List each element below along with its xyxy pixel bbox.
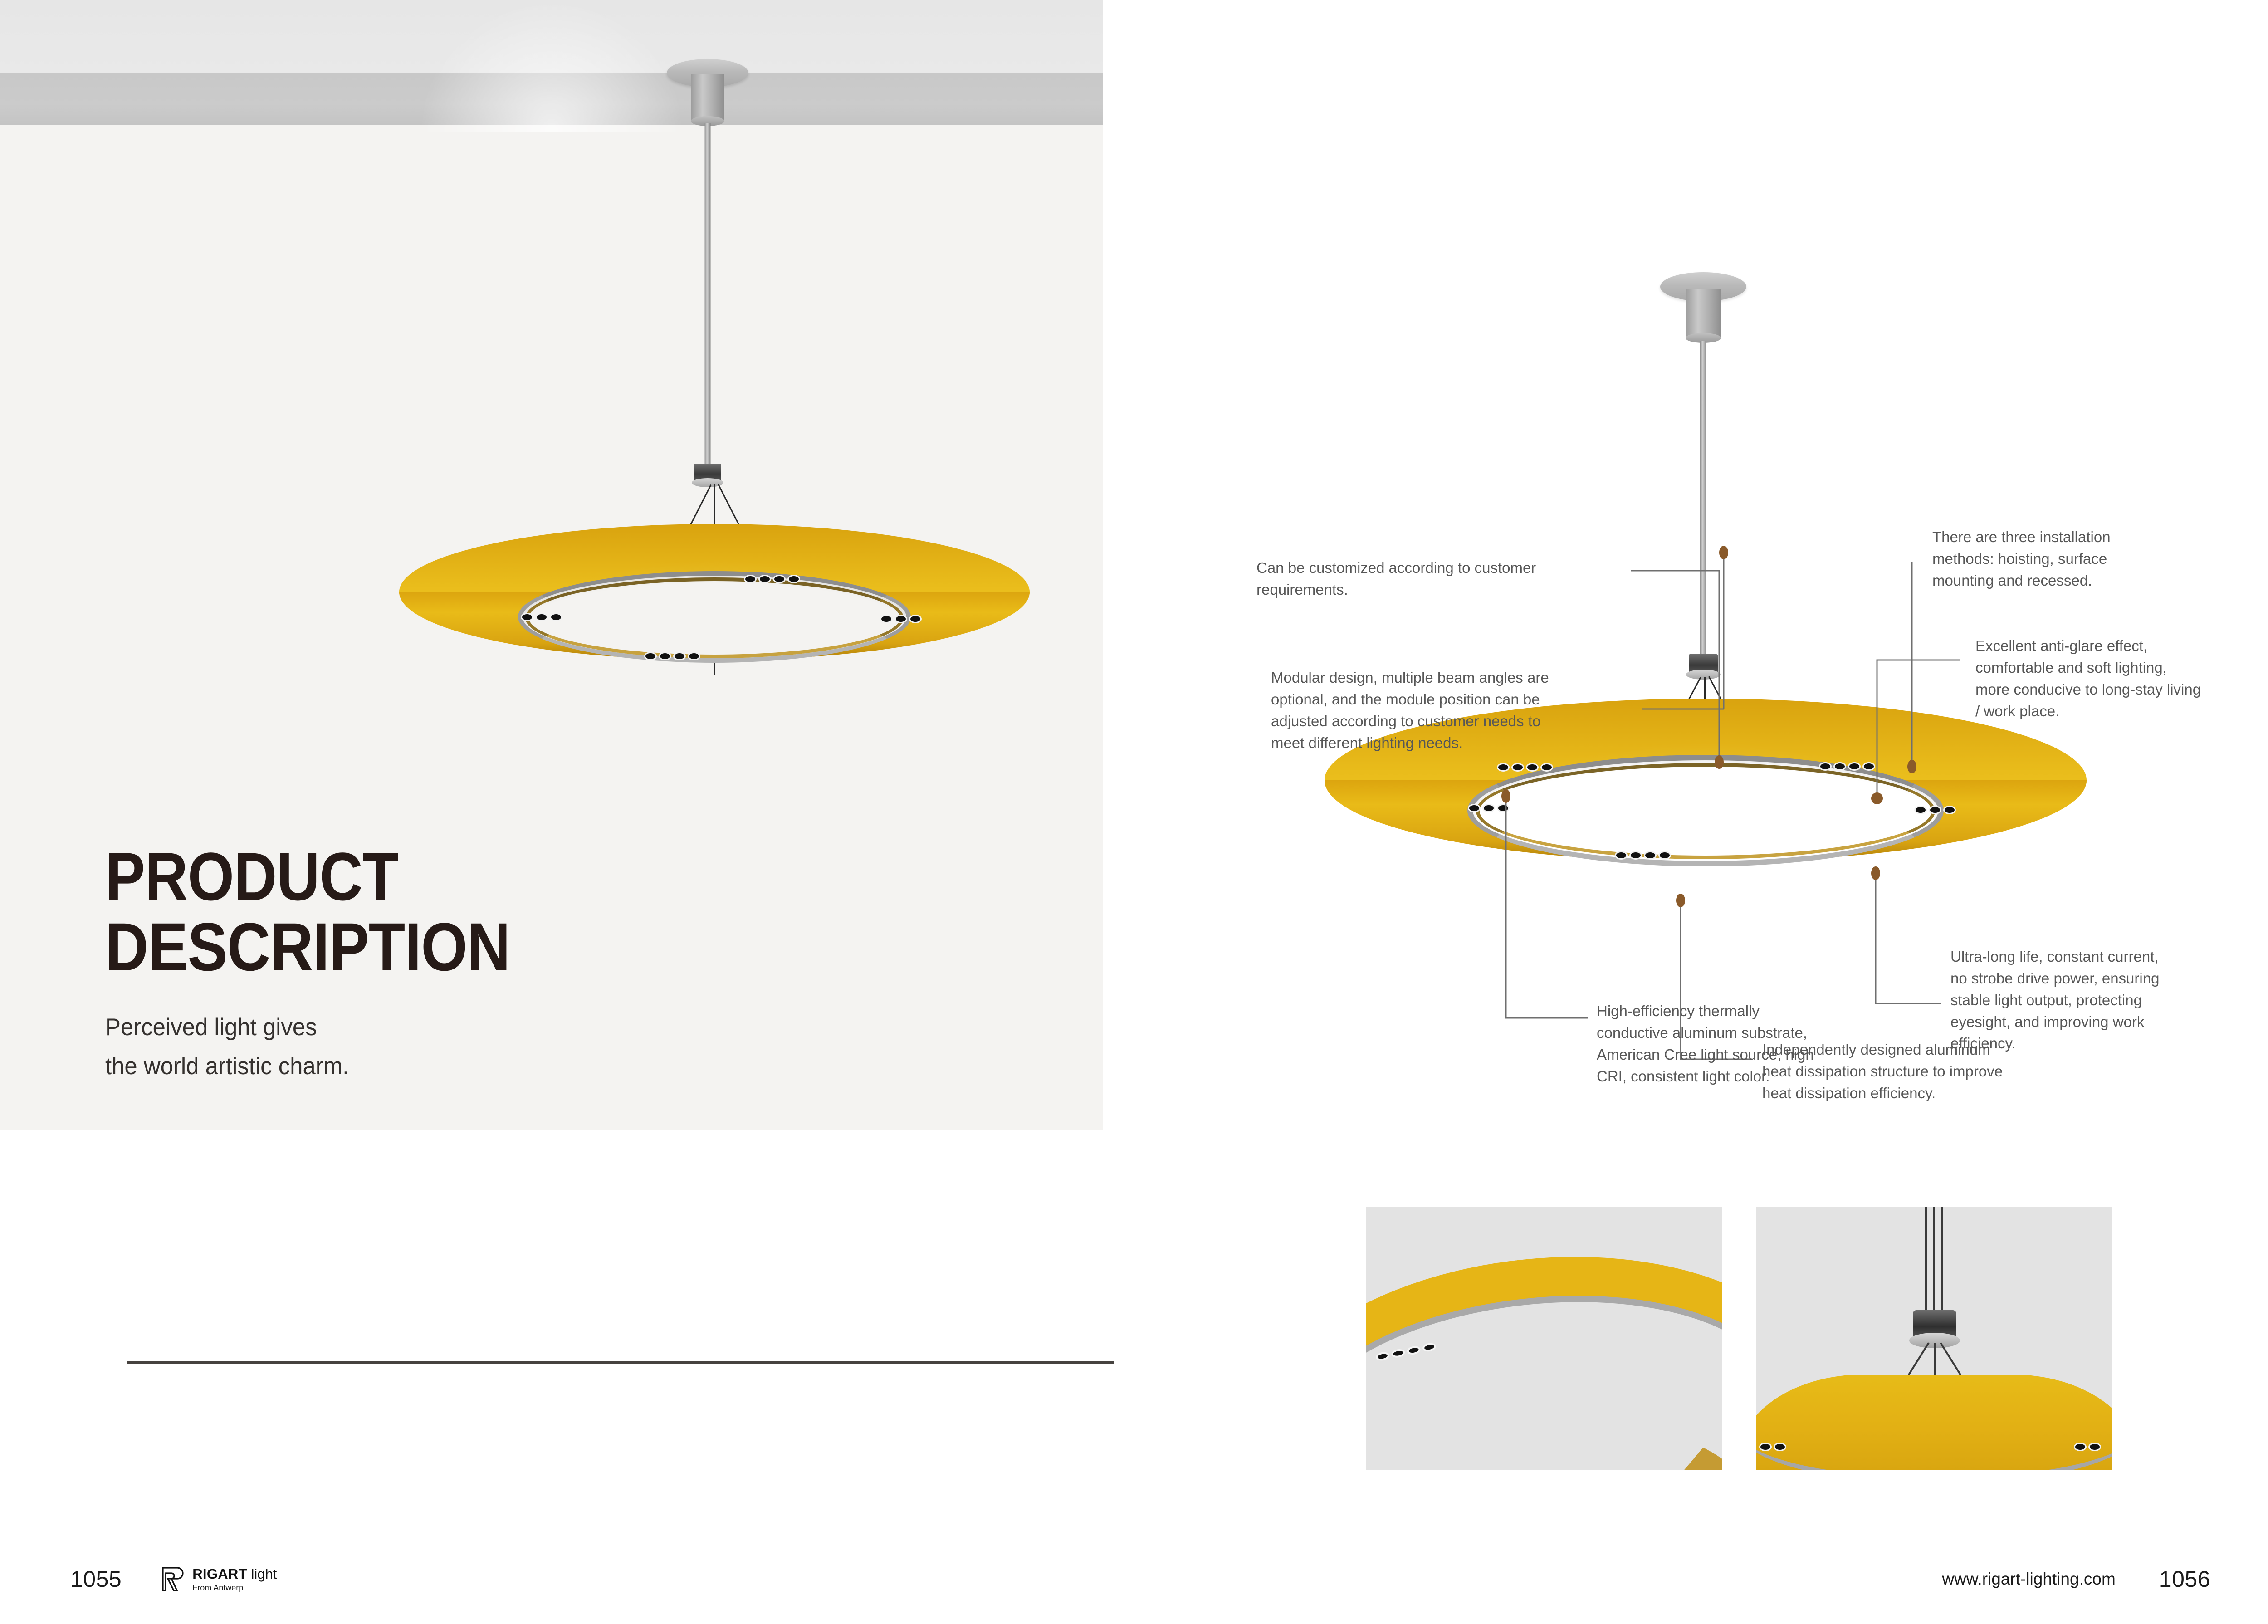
led-lens	[1629, 851, 1642, 860]
brand-name-bold: RIGART	[192, 1566, 247, 1582]
anchor-dot-heat-dissipation	[1676, 894, 1685, 907]
page-subtitle-line-2: the world artistic charm.	[105, 1047, 547, 1086]
brand-logo: RIGART light From Antwerp	[161, 1566, 277, 1592]
anchor-dot-installation-methods	[1907, 760, 1916, 773]
led-lens	[909, 615, 922, 623]
led-lens	[1468, 804, 1481, 812]
led-module-cluster-top-left	[1497, 763, 1553, 772]
led-module-cluster-top	[744, 575, 800, 583]
callout-modular-design: Modular design, multiple beam angles are…	[1271, 667, 1561, 753]
led-lens	[894, 615, 907, 623]
hub-led-cluster-left	[1759, 1443, 1786, 1451]
led-module-cluster-bottom	[644, 652, 700, 660]
led-lens	[1526, 763, 1539, 772]
page-number-right: 1056	[2159, 1566, 2210, 1592]
led-module-cluster-bottom	[1615, 851, 1671, 860]
led-lens	[1862, 762, 1875, 771]
led-lens	[1497, 763, 1510, 772]
led-lens	[521, 613, 533, 621]
led-lens	[1774, 1443, 1786, 1451]
detail-photo-led-modules	[1366, 1207, 1722, 1470]
canopy-stem	[691, 74, 724, 122]
hub-cable-right	[1941, 1207, 1943, 1312]
page-title-line-1: PRODUCT	[105, 841, 510, 912]
led-module-cluster-right	[1914, 806, 1956, 814]
led-lens	[2074, 1443, 2087, 1451]
led-module-cluster-right	[880, 615, 922, 623]
brand-tagline: From Antwerp	[192, 1584, 277, 1592]
led-module-cluster-top-right	[1819, 762, 1875, 771]
page-number-left: 1055	[70, 1566, 122, 1592]
anchor-dot-thermal-substrate	[1501, 789, 1510, 803]
page-subtitle-line-1: Perceived light gives	[105, 1008, 547, 1047]
rigart-logo-icon	[161, 1566, 184, 1592]
heading-block: PRODUCT DESCRIPTION Perceived light give…	[105, 841, 565, 1086]
ring-inner-lip	[525, 577, 904, 658]
led-lens	[1848, 762, 1861, 771]
page-title-line-2: DESCRIPTION	[105, 912, 510, 982]
anchor-dot-anti-glare	[1871, 792, 1883, 804]
led-lens	[773, 575, 786, 583]
ceiling-glow	[419, 0, 684, 132]
footer-left: 1055 RIGART light From Antwerp	[70, 1566, 277, 1592]
hub-ring-rim	[1756, 1430, 2112, 1470]
callout-installation-methods: There are three installation methods: ho…	[1932, 526, 2127, 592]
led-lens	[1644, 851, 1657, 860]
led-lens	[1615, 851, 1628, 860]
anchor-dot-modular-design	[1719, 546, 1728, 559]
diagram-suspension-hub-base	[1686, 670, 1721, 680]
led-lens	[1540, 763, 1553, 772]
right-page: Can be customized according to customer …	[1134, 0, 2268, 1624]
led-lens	[787, 575, 800, 583]
led-lens	[1819, 762, 1832, 771]
ring-luminaire	[399, 524, 1030, 719]
horizontal-rule	[127, 1361, 1114, 1364]
led-lens	[1914, 806, 1927, 814]
led-lens	[688, 652, 700, 660]
canopy-stem	[1686, 289, 1721, 338]
led-lens	[1929, 806, 1941, 814]
anchor-dot-driver-life	[1871, 866, 1880, 880]
hub-cable-center	[1933, 1207, 1935, 1312]
website-url[interactable]: www.rigart-lighting.com	[1942, 1570, 2115, 1589]
hub-cable-left	[1925, 1207, 1927, 1312]
callout-driver-life: Ultra-long life, constant current, no st…	[1950, 946, 2177, 1054]
suspension-rod	[705, 123, 711, 468]
ring-inner-lip	[1476, 763, 1935, 859]
catalog-spread: PRODUCT DESCRIPTION Perceived light give…	[0, 0, 2268, 1624]
hub-led-cluster-right	[2074, 1443, 2101, 1451]
hub-closeup	[1756, 1207, 2112, 1470]
led-lens	[758, 575, 771, 583]
led-lens	[2088, 1443, 2101, 1451]
diagram-suspension-rod	[1700, 341, 1706, 659]
callout-anti-glare: Excellent anti-glare effect, comfortable…	[1975, 635, 2202, 722]
led-lens	[644, 652, 657, 660]
brand-wordmark: RIGART light From Antwerp	[192, 1567, 277, 1592]
ring-arc-closeup	[1366, 1259, 1722, 1470]
led-lens	[1658, 851, 1671, 860]
led-lens	[744, 575, 757, 583]
led-lens	[535, 613, 548, 621]
detail-photo-row	[1134, 1207, 2268, 1479]
left-page: PRODUCT DESCRIPTION Perceived light give…	[0, 0, 1134, 1624]
led-lens	[1943, 806, 1956, 814]
led-lens	[880, 615, 893, 623]
callout-customization: Can be customized according to customer …	[1256, 557, 1556, 601]
led-lens	[550, 613, 562, 621]
anchor-dot-customization	[1715, 755, 1724, 769]
led-lens	[1759, 1443, 1772, 1451]
led-lens	[1482, 804, 1495, 812]
detail-photo-suspension-hub	[1756, 1207, 2112, 1470]
led-module-cluster-left	[1468, 804, 1510, 812]
footer-right: www.rigart-lighting.com 1056	[1942, 1566, 2210, 1592]
led-module-cluster-left	[521, 613, 562, 621]
led-lens	[1511, 763, 1524, 772]
brand-name-light: light	[251, 1566, 277, 1582]
led-lens	[673, 652, 686, 660]
led-lens	[659, 652, 671, 660]
annotated-product-diagram: Can be customized according to customer …	[1134, 0, 2268, 1134]
led-lens	[1833, 762, 1846, 771]
led-lens	[1497, 804, 1510, 812]
